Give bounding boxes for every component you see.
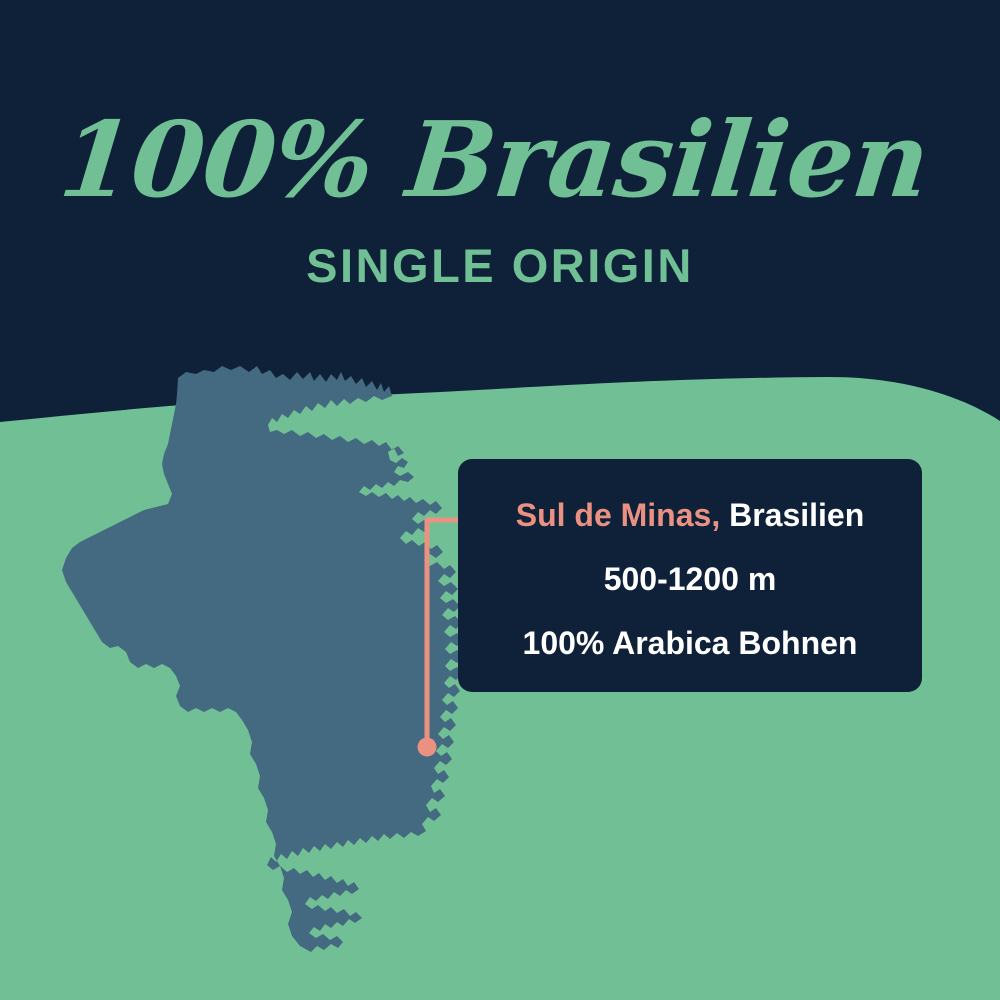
map-marker-dot bbox=[418, 738, 437, 757]
card-altitude: 500-1200 m bbox=[484, 563, 896, 595]
card-country-name: Brasilien bbox=[720, 497, 864, 533]
poster-canvas: 100% Brasilien SINGLE ORIGIN Sul de Mina… bbox=[0, 0, 1000, 1000]
origin-info-card: Sul de Minas, Brasilien 500-1200 m 100% … bbox=[458, 459, 922, 692]
card-origin-line: Sul de Minas, Brasilien bbox=[484, 499, 896, 531]
card-beans: 100% Arabica Bohnen bbox=[484, 627, 896, 659]
card-region-name: Sul de Minas, bbox=[516, 497, 720, 533]
